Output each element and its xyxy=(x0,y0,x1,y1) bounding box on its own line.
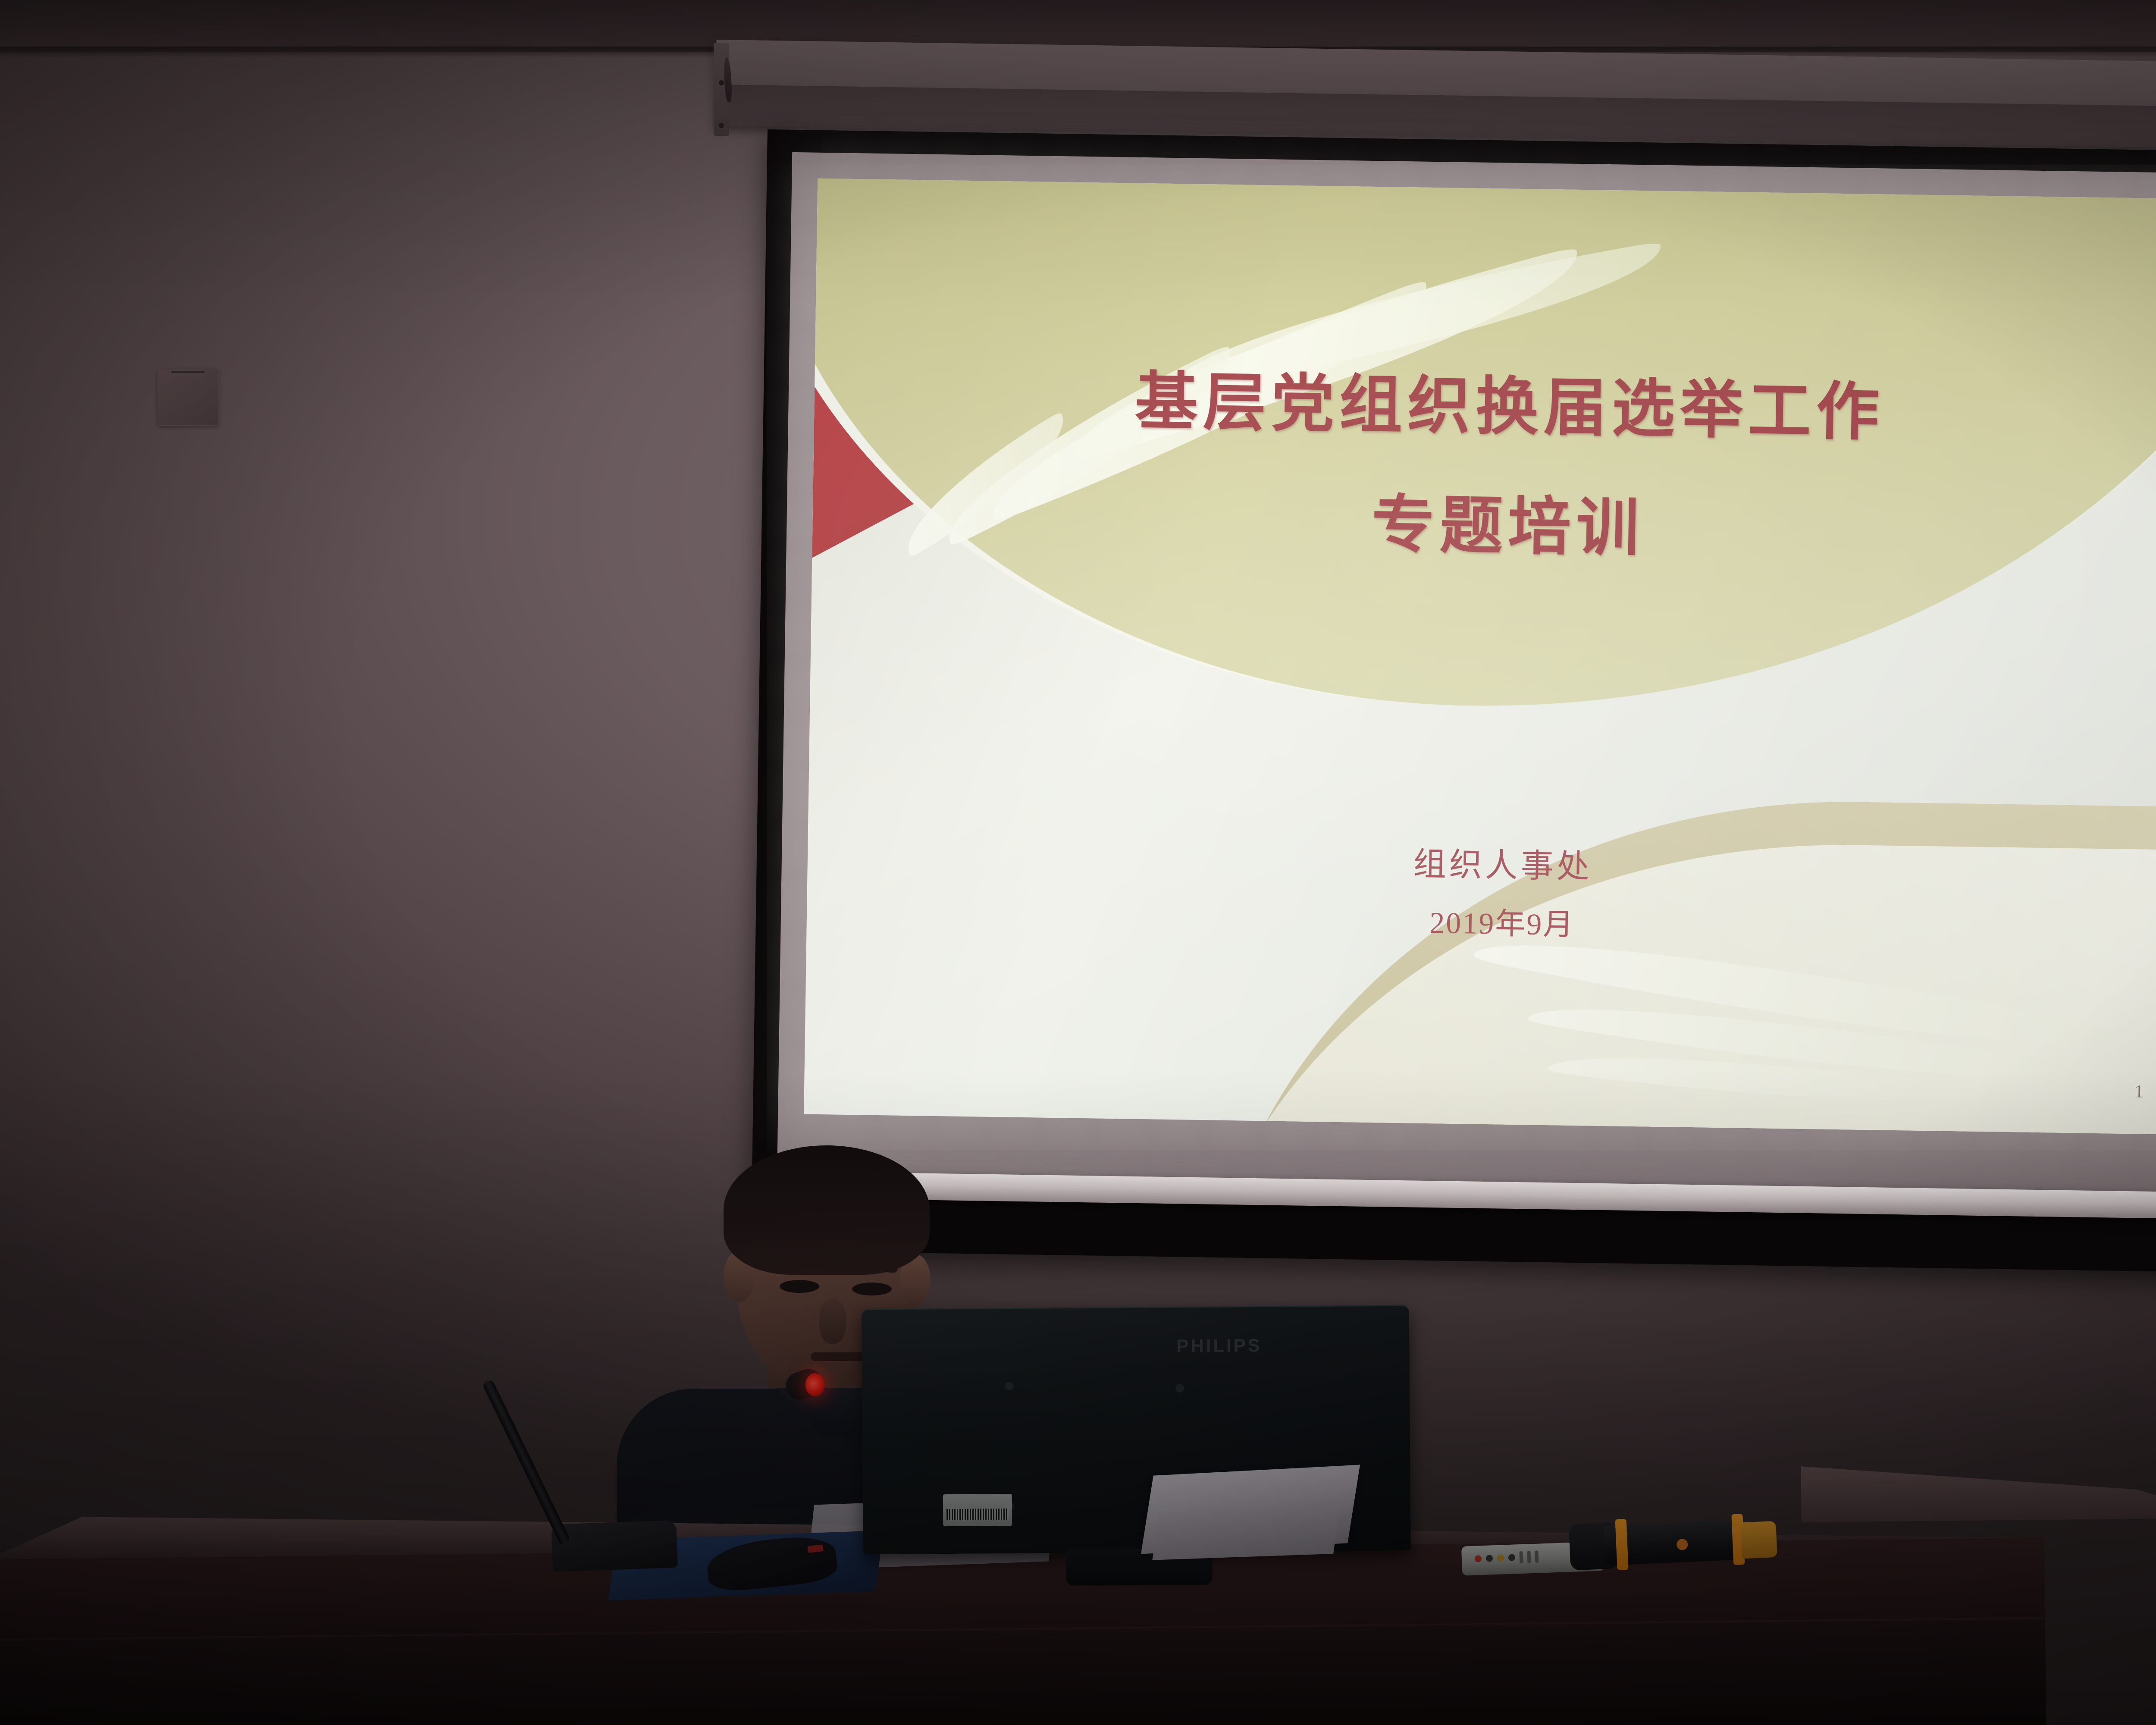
presenter-nose xyxy=(819,1299,846,1344)
projected-slide: 基层党组织换届选举工作 专题培训 组织人事处 2019年9月 1 xyxy=(804,179,2156,1135)
slide-subtitle: 组织人事处 2019年9月 xyxy=(806,825,2156,963)
gooseneck-microphone-base[interactable] xyxy=(551,1520,678,1572)
presenter-mouth xyxy=(811,1352,868,1361)
slide-title-line1: 基层党组织换届选举工作 xyxy=(1134,365,1885,449)
presentation-room-photo: 基层党组织换届选举工作 专题培训 组织人事处 2019年9月 1 xyxy=(0,0,2156,1725)
microphone-battery-cap xyxy=(1740,1521,1777,1559)
monitor-barcode-sticker xyxy=(943,1494,1012,1526)
slide-page-number: 1 xyxy=(2134,1081,2144,1102)
slide-title-line2: 专题培训 xyxy=(812,457,2156,597)
presenter-eye-right xyxy=(852,1283,892,1295)
presenter-eye-left xyxy=(780,1280,819,1293)
presenter-hair xyxy=(724,1145,930,1275)
desk-right-section xyxy=(1801,1462,2156,1725)
microphone-accent-ring xyxy=(1615,1519,1629,1570)
handheld-wireless-microphone[interactable] xyxy=(1569,1513,1803,1571)
slide-subtitle-org: 组织人事处 xyxy=(1413,846,1592,885)
remote-buttons[interactable] xyxy=(1474,1551,1539,1565)
printed-documents[interactable] xyxy=(1152,1506,1340,1560)
desk-right-top-surface xyxy=(1801,1462,2156,1522)
projection-screen: 基层党组织换届选举工作 专题培训 组织人事处 2019年9月 1 xyxy=(751,129,2156,1273)
slide-subtitle-date: 2019年9月 xyxy=(806,886,2156,962)
light-switch-plate[interactable] xyxy=(157,369,219,426)
room-ceiling xyxy=(0,0,2156,52)
microphone-status-led-icon xyxy=(805,1373,824,1396)
monitor-brand-label: PHILIPS xyxy=(1176,1335,1262,1356)
slide-title: 基层党组织换届选举工作 专题培训 xyxy=(812,337,2156,597)
